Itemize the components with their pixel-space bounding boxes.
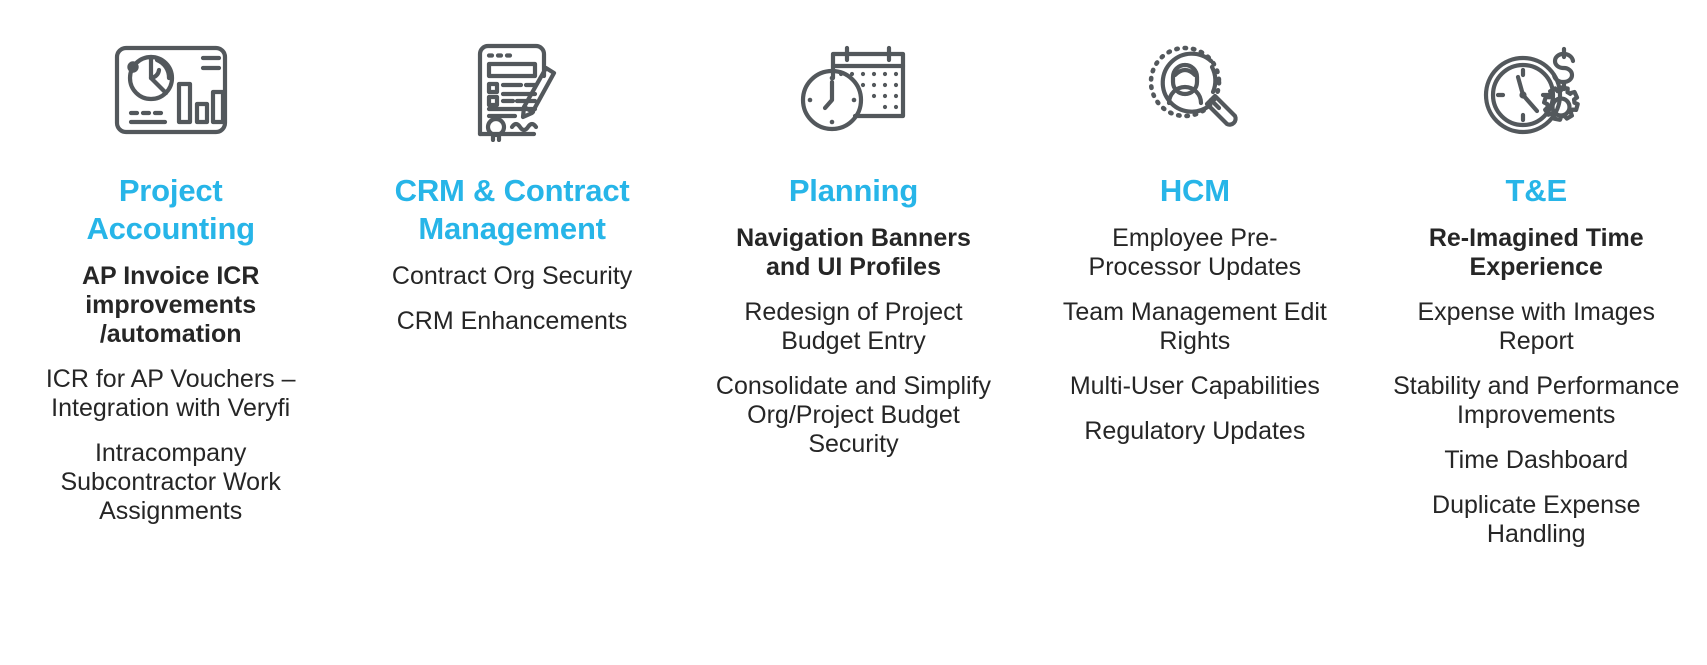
- item-list: Navigation Banners and UI Profiles Redes…: [683, 224, 1024, 475]
- list-item: Navigation Banners and UI Profiles: [714, 224, 992, 282]
- item-list: AP Invoice ICR improvements /automation …: [0, 262, 341, 542]
- clock-dollar-gear-icon: [1483, 30, 1589, 150]
- person-magnifier-icon: [1141, 30, 1249, 150]
- list-item: Regulatory Updates: [1084, 417, 1305, 446]
- column-title: T&E: [1506, 172, 1567, 210]
- list-item: Multi-User Capabilities: [1070, 372, 1320, 401]
- list-item: Contract Org Security: [392, 262, 632, 291]
- list-item: AP Invoice ICR improvements /automation: [45, 262, 297, 349]
- column-title: Planning: [789, 172, 918, 210]
- column-title: Project Accounting: [46, 172, 296, 248]
- analytics-dashboard-icon: [111, 30, 231, 150]
- list-item: Re-Imagined Time Experience: [1392, 224, 1680, 282]
- list-item: Time Dashboard: [1444, 446, 1628, 475]
- list-item: Duplicate Expense Handling: [1392, 491, 1680, 549]
- list-item: Consolidate and Simplify Org/Project Bud…: [714, 372, 992, 459]
- roadmap-board: Project Accounting AP Invoice ICR improv…: [0, 0, 1707, 665]
- clock-calendar-icon: [797, 30, 909, 150]
- item-list: Re-Imagined Time Experience Expense with…: [1366, 224, 1707, 565]
- column-title: HCM: [1160, 172, 1230, 210]
- column-planning: Planning Navigation Banners and UI Profi…: [683, 30, 1024, 475]
- item-list: Contract Org Security CRM Enhancements: [341, 262, 682, 352]
- list-item: ICR for AP Vouchers – Integration with V…: [45, 365, 297, 423]
- column-hcm: HCM Employee Pre-Processor Updates Team …: [1024, 30, 1365, 462]
- item-list: Employee Pre-Processor Updates Team Mana…: [1024, 224, 1365, 462]
- column-crm-contract-management: CRM & Contract Management Contract Org S…: [341, 30, 682, 352]
- contract-document-pen-icon: [462, 30, 562, 150]
- list-item: Redesign of Project Budget Entry: [714, 298, 992, 356]
- column-project-accounting: Project Accounting AP Invoice ICR improv…: [0, 30, 341, 542]
- list-item: Team Management Edit Rights: [1061, 298, 1329, 356]
- column-title: CRM & Contract Management: [362, 172, 662, 248]
- list-item: Intracompany Subcontractor Work Assignme…: [45, 439, 297, 526]
- column-t-and-e: T&E Re-Imagined Time Experience Expense …: [1366, 30, 1707, 565]
- list-item: Employee Pre-Processor Updates: [1061, 224, 1329, 282]
- list-item: Stability and Performance Improvements: [1392, 372, 1680, 430]
- list-item: Expense with Images Report: [1392, 298, 1680, 356]
- list-item: CRM Enhancements: [397, 307, 628, 336]
